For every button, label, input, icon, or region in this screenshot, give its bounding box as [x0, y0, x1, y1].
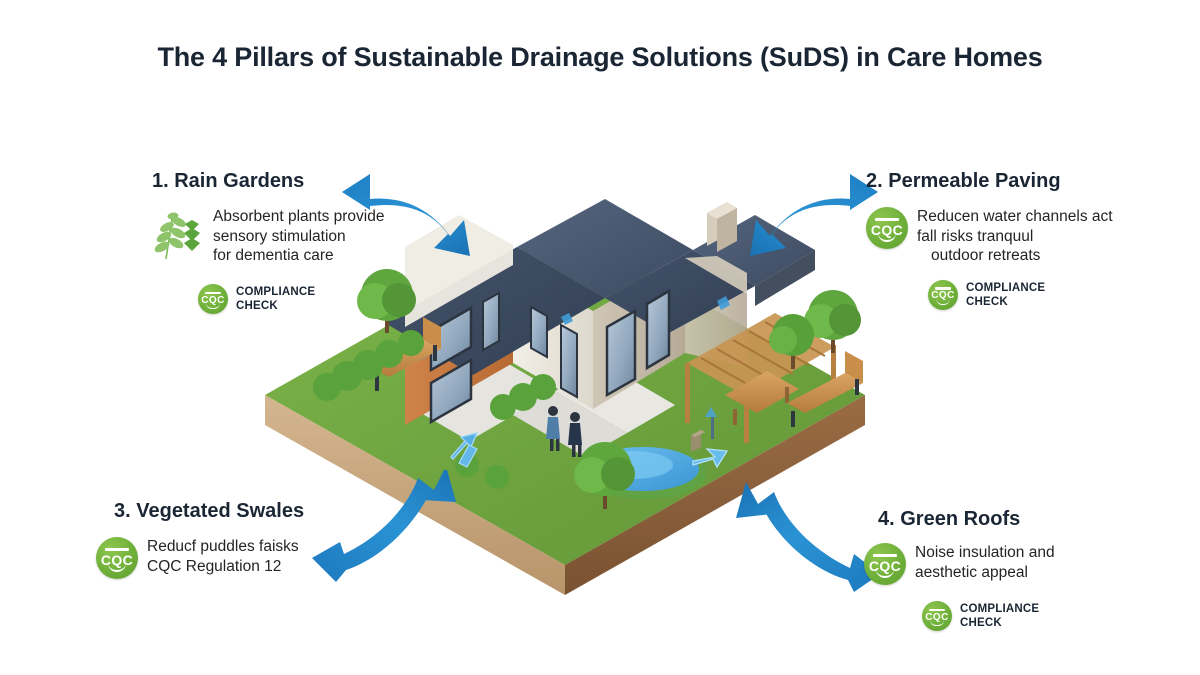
pillar-1-compliance-check[interactable]: CQC COMPLIANCE CHECK — [198, 284, 422, 314]
compliance-label-line-2: CHECK — [960, 616, 1039, 630]
pillar-1-body: Absorbent plants provide sensory stimula… — [213, 207, 384, 266]
compliance-label: COMPLIANCE CHECK — [960, 602, 1039, 630]
compliance-label-line-2: CHECK — [236, 299, 315, 313]
compliance-label-line-1: COMPLIANCE — [966, 281, 1045, 295]
cqc-badge-icon: CQC — [198, 284, 228, 314]
cqc-badge-icon: CQC — [928, 280, 958, 310]
pillar-1-body-line-1: Absorbent plants provide — [213, 207, 384, 227]
pillar-1-rain-gardens[interactable]: 1. Rain Gardens — [152, 170, 422, 314]
page-title: The 4 Pillars of Sustainable Drainage So… — [0, 42, 1200, 73]
pillar-1-body-line-3: for dementia care — [213, 246, 384, 266]
pillar-2-body-line-2: fall risks tranquul — [917, 227, 1113, 247]
pillar-3-vegetated-swales[interactable]: 3. Vegetated Swales CQC Reducf puddles f… — [96, 500, 366, 579]
pillar-2-body-line-3: outdoor retreats — [931, 246, 1113, 266]
compliance-label: COMPLIANCE CHECK — [236, 285, 315, 313]
compliance-label-line-1: COMPLIANCE — [960, 602, 1039, 616]
pillar-1-heading: 1. Rain Gardens — [152, 170, 422, 193]
pillar-4-compliance-check[interactable]: CQC COMPLIANCE CHECK — [922, 601, 1134, 631]
pillar-2-heading: 2. Permeable Paving — [866, 170, 1146, 193]
pillar-1-body-line-2: sensory stimulation — [213, 227, 384, 247]
pillar-2-body: Reducen water channels act fall risks tr… — [917, 207, 1113, 266]
leaf-plant-icon — [152, 207, 204, 268]
pillar-2-body-line-1: Reducen water channels act — [917, 207, 1113, 227]
pillar-2-permeable-paving[interactable]: 2. Permeable Paving CQC Reducen water ch… — [866, 170, 1146, 310]
cqc-badge-icon: CQC — [866, 207, 908, 249]
pillar-3-body-line-2: CQC Regulation 12 — [147, 557, 299, 577]
compliance-label-line-1: COMPLIANCE — [236, 285, 315, 299]
cqc-badge-icon: CQC — [922, 601, 952, 631]
pillar-3-heading: 3. Vegetated Swales — [114, 500, 366, 523]
pillar-3-body: Reducf puddles faisks CQC Regulation 12 — [147, 537, 299, 576]
pillar-4-green-roofs[interactable]: 4. Green Roofs CQC Noise insulation and … — [864, 508, 1134, 631]
compliance-label: COMPLIANCE CHECK — [966, 281, 1045, 309]
pillar-4-body-line-1: Noise insulation and — [915, 543, 1055, 563]
compliance-label-line-2: CHECK — [966, 295, 1045, 309]
infographic-canvas: The 4 Pillars of Sustainable Drainage So… — [0, 0, 1200, 675]
pillar-4-heading: 4. Green Roofs — [878, 508, 1134, 531]
cqc-badge-icon: CQC — [96, 537, 138, 579]
cqc-badge-icon: CQC — [864, 543, 906, 585]
pillar-4-body-line-2: aesthetic appeal — [915, 563, 1055, 583]
pillar-2-compliance-check[interactable]: CQC COMPLIANCE CHECK — [928, 280, 1146, 310]
pillar-3-body-line-1: Reducf puddles faisks — [147, 537, 299, 557]
pillar-4-body: Noise insulation and aesthetic appeal — [915, 543, 1055, 582]
